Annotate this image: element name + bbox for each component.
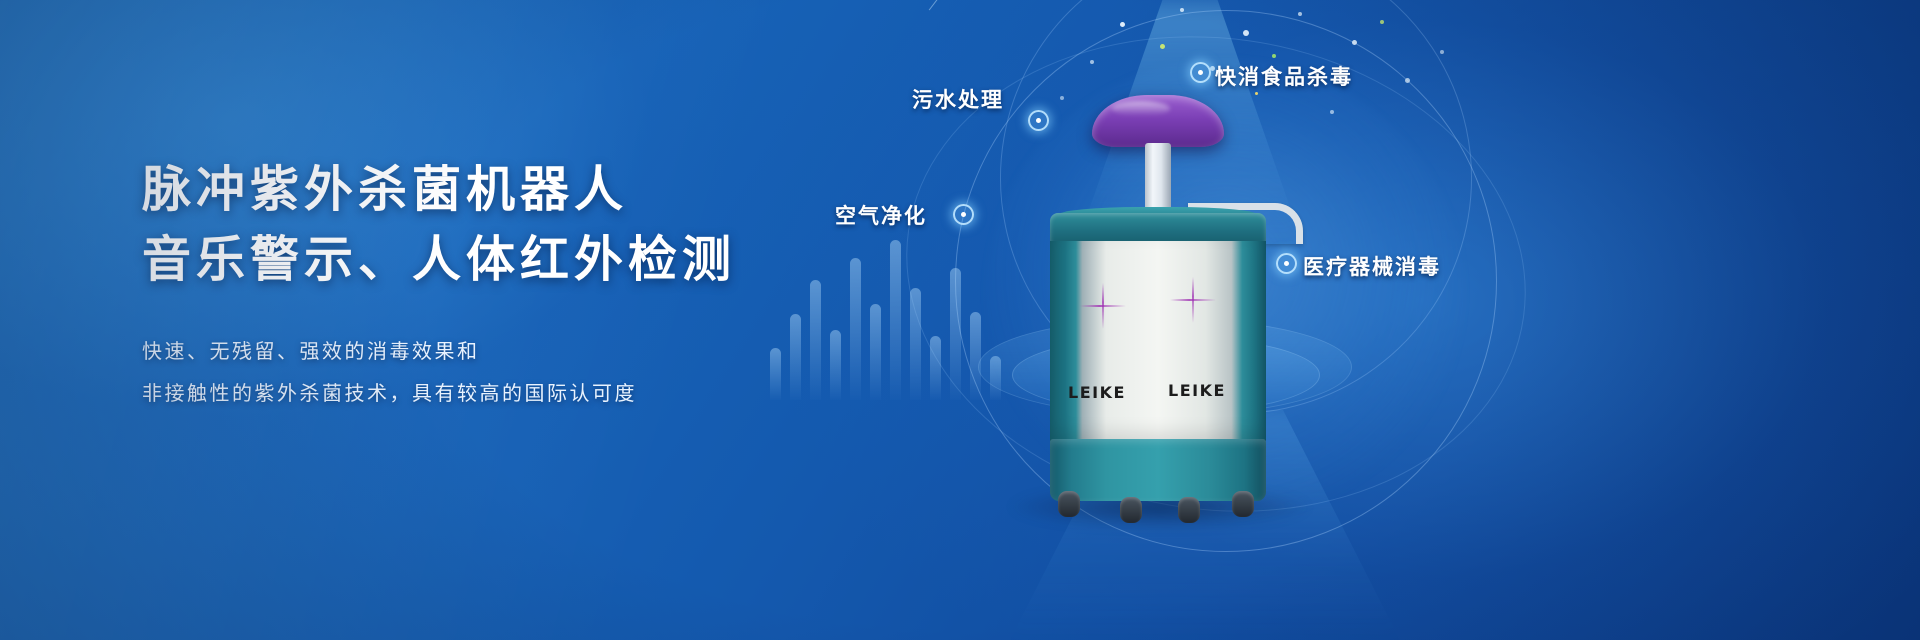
promo-banner: LEIKE LEIKE 污水处理 快消食品杀毒 空气净化 医疗器械消毒 脉冲紫外…: [0, 0, 1920, 640]
banner-subtitle: 快速、无残留、强效的消毒效果和 非接触性的紫外杀菌技术，具有较高的国际认可度: [142, 330, 736, 414]
headline-line-1: 脉冲紫外杀菌机器人: [142, 160, 628, 218]
banner-text-block: 脉冲紫外杀菌机器人 音乐警示、人体红外检测 快速、无残留、强效的消毒效果和 非接…: [142, 155, 736, 414]
label-medical-device-sterilization: 医疗器械消毒: [1303, 251, 1441, 281]
robot-wheel: [1058, 491, 1080, 517]
robot-body-top: [1050, 213, 1266, 243]
audio-equalizer-graphic: [770, 240, 1001, 400]
robot-wheel: [1178, 497, 1200, 523]
particle-dot: [1352, 40, 1357, 45]
feature-node-medical-device: [1276, 253, 1297, 274]
particle-dot: [1405, 78, 1410, 83]
particle-dot: [1160, 44, 1165, 49]
robot-body-base: [1050, 439, 1266, 501]
headline-line-2: 音乐警示、人体红外检测: [142, 225, 736, 295]
uv-spark-icon-left: [1080, 283, 1126, 329]
particle-dot: [1298, 12, 1302, 16]
particle-dot: [1440, 50, 1444, 54]
brand-logo-left: LEIKE: [1068, 383, 1126, 402]
label-fmcg-food-disinfection: 快消食品杀毒: [1215, 61, 1353, 91]
robot-body-panel: [1050, 241, 1266, 441]
particle-dot: [1330, 110, 1334, 114]
uv-lamp-highlight: [1112, 101, 1170, 116]
robot-wheel: [1232, 491, 1254, 517]
label-wastewater-treatment: 污水处理: [912, 84, 1004, 114]
feature-node-wastewater: [1028, 110, 1049, 131]
particle-dot: [1272, 54, 1276, 58]
page-title: 脉冲紫外杀菌机器人 音乐警示、人体红外检测: [142, 155, 736, 294]
label-air-purification: 空气净化: [835, 200, 927, 230]
feature-node-fmcg-food: [1190, 62, 1211, 83]
robot-wheel: [1120, 497, 1142, 523]
subtitle-line-2: 非接触性的紫外杀菌技术，具有较高的国际认可度: [142, 372, 736, 414]
feature-node-air-purification: [953, 204, 974, 225]
particle-dot: [1243, 30, 1249, 36]
particle-dot: [1380, 20, 1384, 24]
subtitle-line-1: 快速、无残留、强效的消毒效果和: [142, 330, 736, 372]
particle-dot: [1090, 60, 1094, 64]
particle-dot: [1180, 8, 1184, 12]
brand-logo-right: LEIKE: [1168, 381, 1226, 400]
uv-disinfection-robot: LEIKE LEIKE: [1028, 95, 1288, 515]
particle-dot: [1120, 22, 1125, 27]
uv-lamp-stem: [1145, 143, 1171, 215]
uv-spark-icon-right: [1170, 277, 1216, 323]
